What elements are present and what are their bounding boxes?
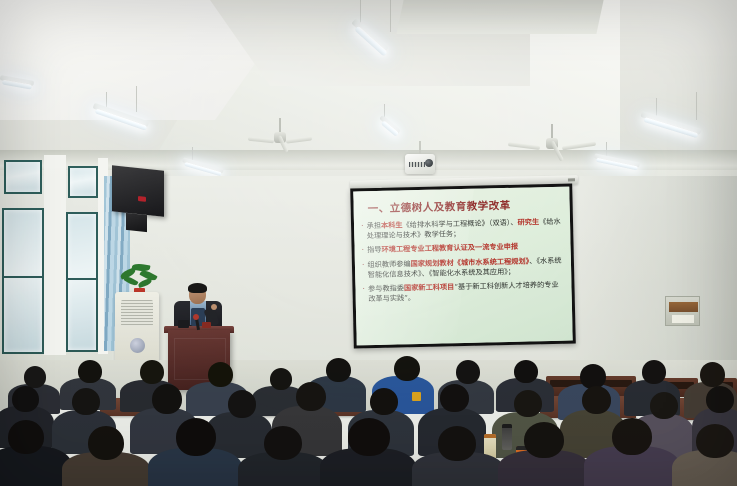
lecture-hall-photo: 一、立德树人及教育教学改革 ·承担本科生《给排水科学与工程概论》（双语）、研究生… [0, 0, 737, 486]
window-mullion-2 [66, 278, 98, 280]
bullet-marker-icon: · [362, 260, 365, 271]
projector-icon [405, 154, 435, 174]
slide-bullet-text: 指导环境工程专业工程教育认证及一流专业申报 [367, 241, 565, 256]
slide-bullet-text: 承担本科生《给排水科学与工程概论》（双语）、研究生《给水处理理论与技术》教学任务… [367, 217, 565, 242]
bottle-dark [502, 424, 512, 450]
projection-screen: 一、立德树人及教育教学改革 ·承担本科生《给排水科学与工程概论》（双语）、研究生… [350, 184, 576, 349]
bullet-marker-icon: · [362, 246, 365, 257]
bullet-marker-icon: · [361, 221, 364, 232]
window-tall-2 [66, 212, 98, 352]
slide-bullet: ·承担本科生《给排水科学与工程概论》（双语）、研究生《给水处理理论与技术》教学任… [361, 217, 564, 242]
audience [0, 352, 737, 486]
slide-title: 一、立德树人及教育教学改革 [368, 198, 511, 216]
slide-bullet-text: 组织教师参编国家规划教材《城市水系统工程规划》、《水系统智能化信息技术》、《智能… [367, 255, 565, 280]
slide-bullet: ·指导环境工程专业工程教育认证及一流专业申报 [362, 241, 565, 256]
slide-bullet: ·组织教师参编国家规划教材《城市水系统工程规划》、《水系统智能化信息技术》、《智… [362, 255, 565, 280]
microphone-head-icon [193, 314, 199, 320]
ceiling-fan-left [258, 118, 302, 146]
wall-speaker-sub-icon [126, 213, 147, 232]
window-upper-2 [68, 166, 98, 198]
ceiling-fan-right [522, 124, 582, 154]
presenter-hand [211, 304, 217, 310]
window-tall-1 [2, 208, 44, 354]
slide-bullet: ·参与教指委国家新工科项目“基于新工科创新人才培养的专业改革与实践”。 [362, 280, 565, 305]
electrical-panel-icon [665, 296, 700, 326]
slide-bullet-list: ·承担本科生《给排水科学与工程概论》（双语）、研究生《给水处理理论与技术》教学任… [361, 217, 566, 309]
slide-bullet-text: 参与教指委国家新工科项目“基于新工科创新人才培养的专业改革与实践”。 [368, 280, 566, 305]
ceiling-beam [396, 0, 603, 34]
podium-object-left [178, 320, 189, 328]
podium-object-right [202, 322, 211, 328]
window-upper-1 [4, 160, 42, 194]
wall-speaker-icon [112, 165, 164, 216]
jacket-logo [412, 392, 421, 401]
bullet-marker-icon: · [362, 284, 365, 295]
window-mullion-1 [2, 276, 44, 278]
presenter-hair [188, 283, 207, 293]
window-pillar-1 [44, 155, 66, 355]
